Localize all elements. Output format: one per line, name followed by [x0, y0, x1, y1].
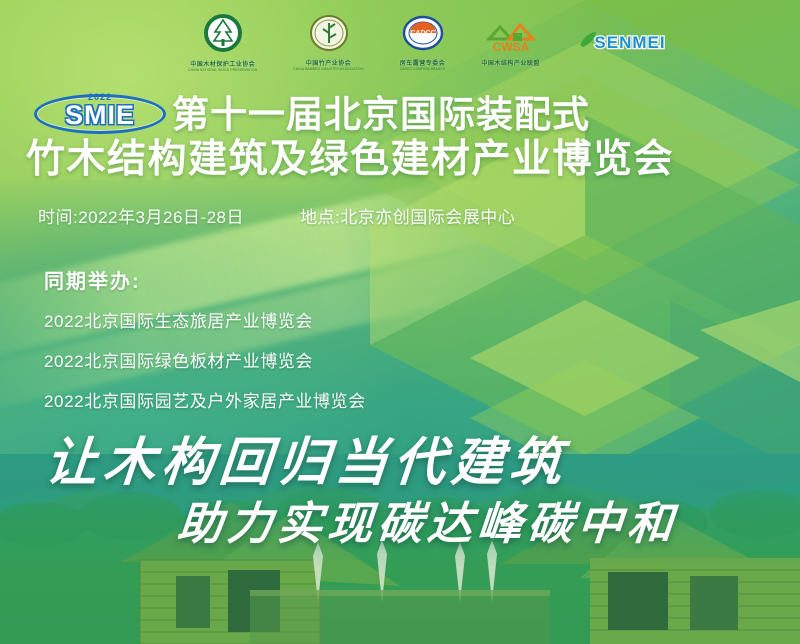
concurrent-event-item: 2022北京国际园艺及户外家居产业博览会: [44, 387, 366, 412]
slogan-line-1: 让木构回归当代建筑: [43, 420, 572, 495]
sponsor-logo-1: 中国木材保护工业协会 CHINA NATIONAL WOOD PRESERVAT…: [188, 12, 257, 72]
poster-title-block: 2022 SMIE 第十一届北京国际装配式 竹木结构建筑及绿色建材产业博览会: [0, 92, 800, 181]
concurrent-events-block: 同期举办: 2022北京国际生态旅居产业博览会 2022北京国际绿色板材产业博览…: [44, 265, 366, 427]
svg-text:CWSA: CWSA: [492, 40, 529, 54]
sponsor-logo-strip: 中国木材保护工业协会 CHINA NATIONAL WOOD PRESERVAT…: [0, 6, 800, 78]
sponsor-logo-3-en: CADCC CAMPING BRANCH: [400, 67, 446, 71]
sponsor-logo-1-name: 中国木材保护工业协会: [188, 59, 257, 68]
title-line-1: 第十一届北京国际装配式: [172, 96, 590, 135]
smie-logo-text: SMIE: [34, 102, 166, 129]
event-date: 时间:2022年3月26日-28日: [38, 203, 244, 228]
concurrent-event-item: 2022北京国际绿色板材产业博览会: [44, 347, 366, 372]
event-meta: 时间:2022年3月26日-28日 地点:北京亦创国际会展中心: [38, 203, 778, 228]
sponsor-logo-5: SENMEI SENMEI: [576, 25, 672, 59]
tree-shield-icon: [200, 12, 246, 58]
svg-text:SENMEI: SENMEI: [594, 33, 665, 52]
sponsor-logo-3: CADCC 房车露营专委会 CADCC CAMPING BRANCH: [400, 13, 446, 71]
exhibition-poster: 中国木材保护工业协会 CHINA NATIONAL WOOD PRESERVAT…: [0, 0, 800, 644]
sponsor-logo-4-name: 中国木结构产业联盟: [481, 58, 540, 67]
sponsor-logo-3-name: 房车露营专委会: [400, 58, 446, 67]
smie-logo: 2022 SMIE: [34, 92, 166, 138]
cadcc-oval-icon: CADCC: [401, 13, 445, 57]
slogan-line-2: 助力实现碳达峰碳中和: [175, 487, 681, 552]
cwsa-house-icon: CWSA: [483, 17, 539, 57]
sponsor-logo-2: 中国竹产业协会 CHINA BAMBOO INDUSTRY ASSOCIATIO…: [293, 13, 364, 71]
svg-text:CADCC: CADCC: [410, 30, 435, 37]
bamboo-seal-icon: [307, 13, 351, 57]
concurrent-event-item: 2022北京国际生态旅居产业博览会: [44, 307, 366, 332]
event-venue: 地点:北京亦创国际会展中心: [300, 203, 515, 228]
sponsor-logo-2-name: 中国竹产业协会: [293, 58, 364, 67]
senmei-leaf-icon: SENMEI: [576, 25, 672, 55]
concurrent-events-heading: 同期举办:: [44, 265, 366, 294]
title-first-row: 2022 SMIE 第十一届北京国际装配式: [0, 92, 800, 138]
title-line-2: 竹木结构建筑及绿色建材产业博览会: [0, 140, 800, 181]
sponsor-logo-1-en: CHINA NATIONAL WOOD PRESERVATION: [188, 68, 257, 72]
sponsor-logo-4: CWSA 中国木结构产业联盟: [481, 17, 540, 67]
sponsor-logo-2-en: CHINA BAMBOO INDUSTRY ASSOCIATION: [293, 67, 364, 71]
